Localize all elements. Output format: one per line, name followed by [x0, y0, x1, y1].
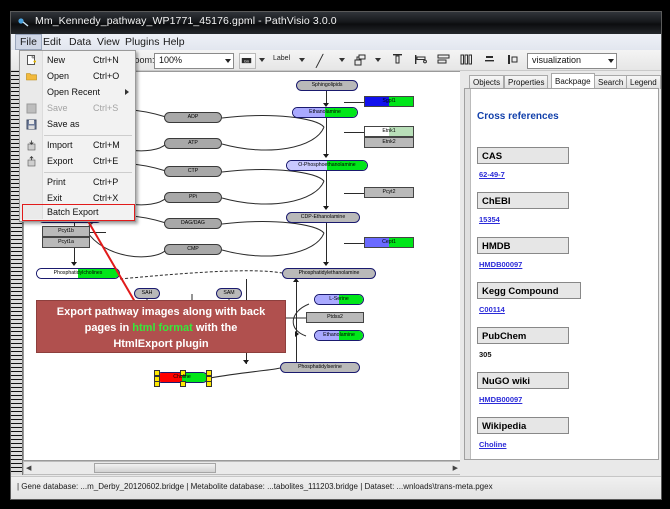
menu-file[interactable]: File — [15, 34, 42, 50]
xref-value-kegg[interactable]: C00114 — [479, 305, 505, 314]
callout-highlight: html format — [132, 322, 193, 334]
title-bar: Mm_Kennedy_pathway_WP1771_45176.gpml - P… — [11, 12, 661, 34]
shape-dropdown-icon[interactable] — [375, 58, 381, 62]
file-menu-item-save: Save Ctrl+S — [21, 101, 134, 116]
xref-value-wikipedia[interactable]: Choline — [479, 440, 507, 449]
tab-search[interactable]: Search — [594, 75, 627, 89]
file-menu-label-exit: Exit — [47, 193, 62, 203]
chevron-down-icon — [225, 59, 231, 63]
xref-value-chebi[interactable]: 15354 — [479, 215, 500, 224]
annotation-callout: Export pathway images along with back pa… — [36, 300, 286, 353]
file-menu-item-open-recent[interactable]: Open Recent — [21, 85, 134, 100]
stack-icon[interactable] — [483, 53, 496, 66]
scrollbar-thumb[interactable] — [94, 463, 216, 473]
group-icon[interactable] — [506, 53, 519, 66]
shape-icon[interactable] — [354, 54, 367, 66]
file-menu-label-save: Save — [47, 103, 68, 113]
callout-line-3: HtmlExport plugin — [37, 336, 285, 352]
file-menu-shortcut-exit: Ctrl+X — [93, 193, 118, 203]
file-menu-label-open-recent: Open Recent — [47, 87, 100, 97]
status-text: | Gene database: ...m_Derby_20120602.bri… — [17, 482, 493, 491]
xref-value-pubchem: 305 — [479, 350, 492, 359]
visualization-value: visualization — [532, 55, 581, 65]
pathvisio-window: Mm_Kennedy_pathway_WP1771_45176.gpml - P… — [10, 11, 662, 500]
zoom-value: 100% — [159, 55, 182, 65]
xref-source-kegg: Kegg Compound — [477, 282, 581, 299]
distribute-horizontal-icon[interactable] — [460, 53, 473, 66]
new-document-icon — [26, 55, 37, 66]
screenshot-frame: Mm_Kennedy_pathway_WP1771_45176.gpml - P… — [0, 0, 670, 509]
label-tool-label[interactable]: Label — [273, 55, 290, 62]
file-menu-item-print[interactable]: Print Ctrl+P — [21, 175, 134, 190]
chevron-down-icon — [608, 59, 614, 63]
file-menu-item-open[interactable]: Open Ctrl+O — [21, 69, 134, 84]
file-menu-item-import[interactable]: Import Ctrl+M — [21, 138, 134, 153]
xref-source-cas: CAS — [477, 147, 569, 164]
file-menu-shortcut-save: Ctrl+S — [93, 103, 118, 113]
import-icon — [26, 140, 37, 151]
line-dropdown-icon[interactable] — [339, 58, 345, 62]
xref-value-hmdb[interactable]: HMDB00097 — [479, 260, 522, 269]
file-menu-shortcut-import: Ctrl+M — [93, 140, 120, 150]
file-menu-shortcut-export: Ctrl+E — [93, 156, 118, 166]
svg-text:Gn: Gn — [244, 59, 249, 63]
save-disk-icon — [26, 103, 37, 114]
file-menu-shortcut-new: Ctrl+N — [93, 55, 119, 65]
file-menu-label-import: Import — [47, 140, 73, 150]
export-icon — [26, 156, 37, 167]
callout-line-2c: with the — [193, 322, 238, 334]
label-dropdown-icon[interactable] — [299, 58, 305, 62]
menu-help[interactable]: Help — [159, 35, 189, 49]
tab-legend[interactable]: Legend — [626, 75, 661, 89]
backpage-panel: Cross references CAS 62-49-7 ChEBI 15354… — [464, 88, 659, 460]
backpage-gutter — [465, 89, 471, 459]
callout-line-1: Export pathway images along with back — [37, 304, 285, 320]
file-menu-label-print: Print — [47, 177, 66, 187]
xref-value-nugo[interactable]: HMDB00097 — [479, 395, 522, 404]
gene-box-icon: Gn — [240, 55, 253, 67]
file-menu-label-new: New — [47, 55, 65, 65]
window-title: Mm_Kennedy_pathway_WP1771_45176.gpml - P… — [35, 15, 337, 27]
pathvisio-icon — [17, 16, 30, 29]
file-menu-item-new[interactable]: New Ctrl+N — [21, 53, 134, 68]
xref-source-hmdb: HMDB — [477, 237, 569, 254]
scroll-left-icon[interactable]: ◀ — [26, 464, 31, 472]
xref-source-chebi: ChEBI — [477, 192, 569, 209]
submenu-chevron-icon — [125, 89, 129, 95]
line-icon[interactable]: ╱ — [316, 54, 323, 68]
open-folder-icon — [26, 71, 37, 82]
side-panel: Objects Properties Backpage Search Legen… — [460, 71, 660, 475]
menu-edit[interactable]: Edit — [39, 35, 65, 49]
xref-source-pubchem: PubChem — [477, 327, 569, 344]
menu-view[interactable]: View — [93, 35, 124, 49]
tab-properties[interactable]: Properties — [504, 75, 548, 89]
xref-value-cas[interactable]: 62-49-7 — [479, 170, 505, 179]
canvas-horizontal-scrollbar[interactable]: ◀ ▶ — [23, 461, 461, 475]
xref-source-wikipedia: Wikipedia — [477, 417, 569, 434]
zoom-combo[interactable]: 100% — [154, 53, 234, 69]
file-menu-label-open: Open — [47, 71, 69, 81]
side-panel-tabs: Objects Properties Backpage Search Legen… — [463, 73, 659, 88]
tab-objects[interactable]: Objects — [469, 75, 504, 89]
file-menu-label-save-as: Save as — [47, 119, 80, 129]
batch-export-highlight — [22, 204, 135, 221]
file-menu-popup: New Ctrl+N Open Ctrl+O Open Recent Save … — [19, 50, 136, 222]
status-bar: | Gene database: ...m_Derby_20120602.bri… — [11, 476, 661, 499]
file-menu-shortcut-print: Ctrl+P — [93, 177, 118, 187]
file-menu-label-export: Export — [47, 156, 73, 166]
menu-plugins[interactable]: Plugins — [121, 35, 163, 49]
save-as-icon — [26, 119, 37, 130]
datanode-dropdown-icon[interactable] — [259, 58, 265, 62]
align-top-icon[interactable] — [391, 53, 404, 66]
xref-source-nugo: NuGO wiki — [477, 372, 569, 389]
file-menu-item-save-as[interactable]: Save as — [21, 117, 134, 132]
menu-separator — [44, 135, 132, 136]
file-menu-shortcut-open: Ctrl+O — [93, 71, 119, 81]
tab-backpage[interactable]: Backpage — [551, 73, 595, 89]
file-menu-item-export[interactable]: Export Ctrl+E — [21, 154, 134, 169]
distribute-vertical-icon[interactable] — [437, 53, 450, 66]
callout-line-2: pages in html format with the — [37, 320, 285, 336]
callout-line-2a: pages in — [85, 322, 133, 334]
align-left-icon[interactable] — [414, 53, 427, 66]
scroll-right-icon[interactable]: ▶ — [453, 464, 458, 472]
menu-separator — [44, 172, 132, 173]
datanode-tool-button[interactable]: Gn — [239, 53, 256, 69]
visualization-combo[interactable]: visualization — [527, 53, 617, 69]
menu-data[interactable]: Data — [65, 35, 95, 49]
menu-bar: File Edit Data View Plugins Help — [11, 34, 661, 51]
backpage-title: Cross references — [477, 111, 559, 122]
